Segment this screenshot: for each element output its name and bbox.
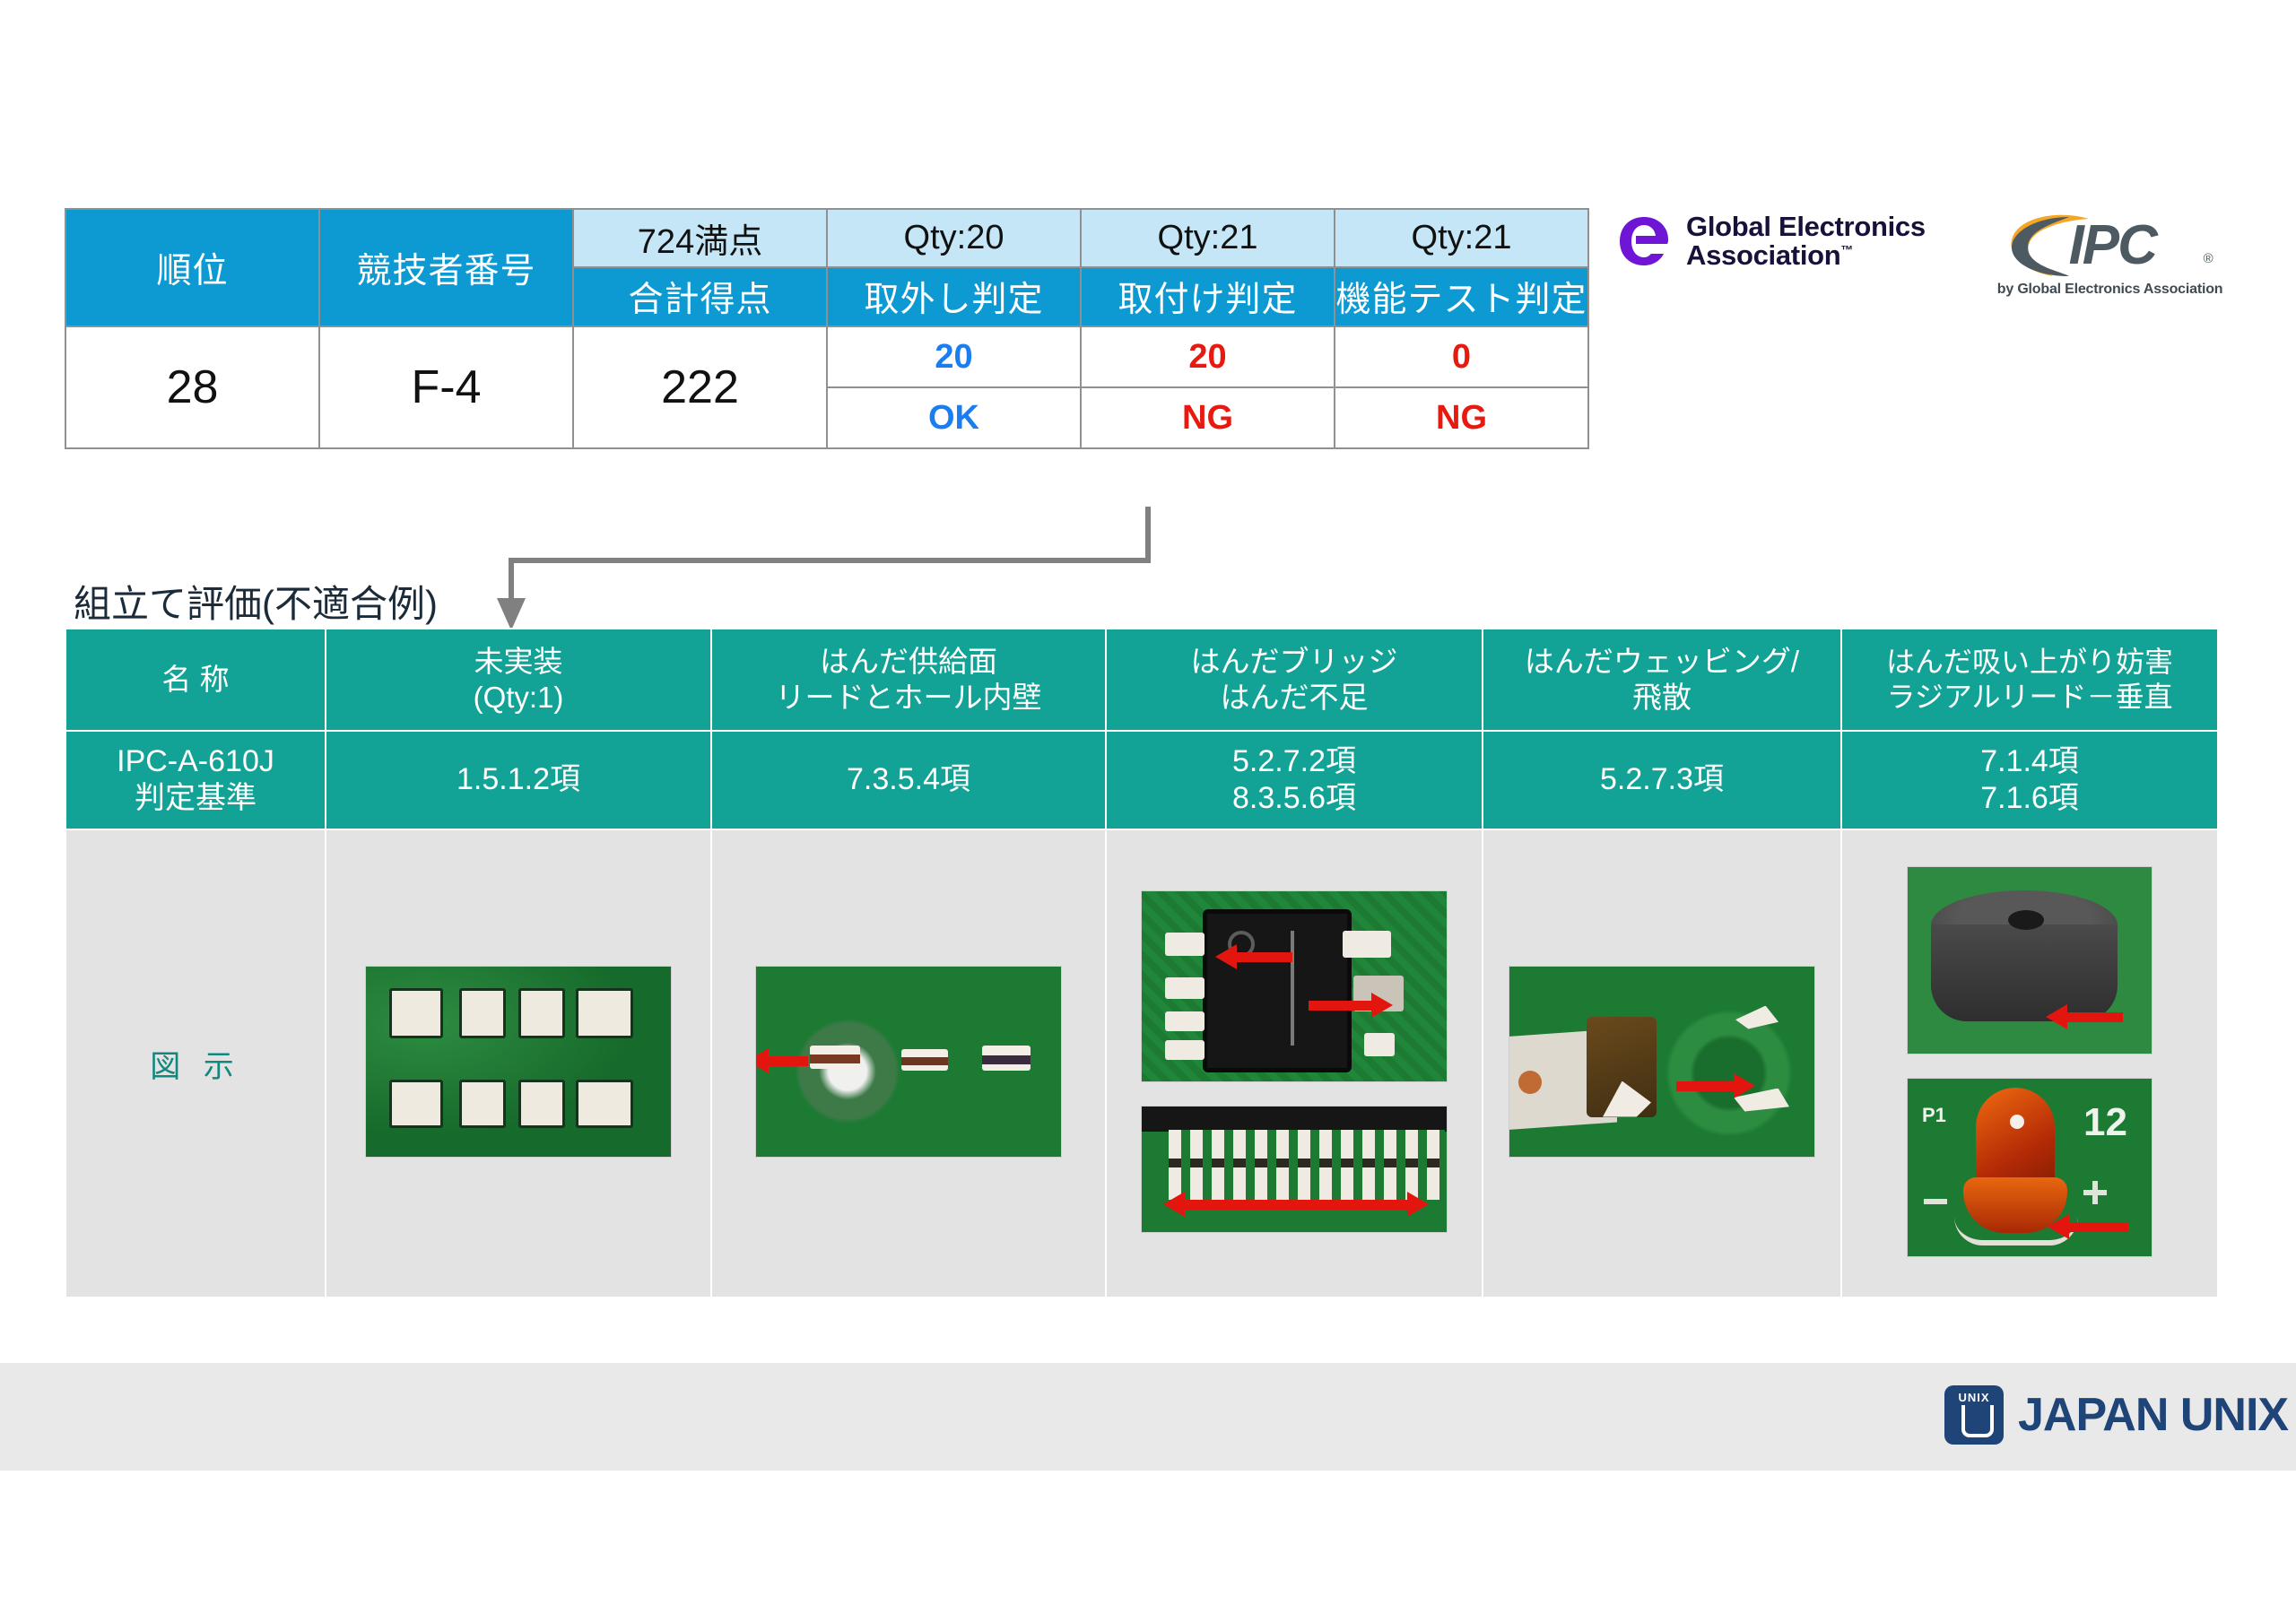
- japan-unix-u-icon: [1961, 1405, 1994, 1437]
- photo-cell-unmounted: [326, 829, 711, 1298]
- score-header-function-qty: Qty:21: [1335, 209, 1588, 267]
- defect-header-wicking: はんだ吸い上がり妨害 ラジアルリード－垂直: [1841, 629, 2218, 731]
- ipc-subtitle: by Global Electronics Association: [1997, 282, 2223, 298]
- criteria-wicking-line-1: 7.1.4項: [1842, 743, 2217, 780]
- defect-header-solder-bridge: はんだブリッジ はんだ不足: [1106, 629, 1483, 731]
- score-value-competitor-no: F-4: [319, 326, 573, 448]
- score-header-max-points: 724満点: [573, 209, 827, 267]
- defect-header-wicking-line-1: はんだ吸い上がり妨害: [1842, 645, 2217, 680]
- criteria-solder-webbing: 5.2.7.3項: [1483, 731, 1841, 829]
- score-value-removal-points: 20: [827, 326, 1081, 387]
- score-header-removal: 取外し判定: [827, 267, 1081, 326]
- defect-header-solder-webbing-line-1: はんだウェッビング/: [1483, 644, 1840, 680]
- score-header-install: 取付け判定: [1081, 267, 1335, 326]
- defect-header-unmounted: 未実装 (Qty:1): [326, 629, 711, 731]
- japan-unix-mark-text: UNIX: [1944, 1391, 2004, 1404]
- ipc-letters: IPC: [2069, 213, 2156, 277]
- ipc-logo: IPC ® by Global Electronics Association: [1997, 212, 2223, 298]
- score-data-row-points: 28 F-4 222 20 20 0: [65, 326, 1588, 387]
- callout-arrow-icon: [2067, 1222, 2128, 1232]
- solder-source-side-photo-wrap: [755, 966, 1062, 1158]
- trademark-icon: ™: [1840, 243, 1853, 257]
- defect-example-table: 名 称 未実装 (Qty:1) はんだ供給面 リードとホール内壁 はんだブリッジ…: [65, 628, 2219, 1298]
- unmounted-pads-photo-wrap: [365, 966, 672, 1158]
- radial-lead-buzzer-photo: [1907, 866, 2152, 1055]
- defect-header-name-line-1: 名 称: [66, 662, 325, 698]
- defect-header-unmounted-line-1: 未実装: [326, 644, 710, 680]
- solder-bridge-photos-wrap: [1141, 890, 1448, 1233]
- score-header-removal-qty: Qty:20: [827, 209, 1081, 267]
- defect-header-unmounted-line-2: (Qty:1): [326, 680, 710, 716]
- defect-header-solder-source: はんだ供給面 リードとホール内壁: [711, 629, 1106, 731]
- global-electronics-association-logo: Global Electronics Association™: [1614, 212, 1926, 271]
- photo-cell-solder-webbing: [1483, 829, 1841, 1298]
- criteria-solder-webbing-line-1: 5.2.7.3項: [1483, 761, 1840, 798]
- gea-line-1: Global Electronics: [1686, 213, 1926, 241]
- criteria-solder-bridge-line-2: 8.3.5.6項: [1107, 780, 1482, 817]
- defect-header-solder-webbing-line-2: 飛散: [1483, 680, 1840, 716]
- callout-arrow-icon: [1183, 1200, 1409, 1210]
- criteria-wicking: 7.1.4項 7.1.6項: [1841, 731, 2218, 829]
- brand-logos: Global Electronics Association™ IPC ® by…: [1614, 212, 2222, 298]
- solder-webbing-photo: [1509, 966, 1815, 1158]
- callout-arrow-icon: [767, 1056, 808, 1066]
- gea-e-icon: [1614, 212, 1674, 271]
- criteria-unmounted-line-1: 1.5.1.2項: [326, 761, 710, 798]
- photo-row-label: 図 示: [65, 829, 326, 1298]
- criteria-solder-source-line-1: 7.3.5.4項: [712, 761, 1105, 798]
- solder-bridge-ic-photo: [1141, 890, 1448, 1082]
- solder-webbing-photo-wrap: [1509, 966, 1815, 1158]
- japan-unix-mark-icon: UNIX: [1944, 1385, 2004, 1445]
- solder-source-side-photo: [755, 966, 1062, 1158]
- score-header-function: 機能テスト判定: [1335, 267, 1588, 326]
- callout-arrow-icon: [1235, 952, 1292, 962]
- photo-cell-wicking: P1 12: [1841, 829, 2218, 1298]
- radial-lead-led-photo: P1 12: [1907, 1078, 2152, 1257]
- section-title: 組立て評価(不適合例): [74, 574, 438, 629]
- defect-criteria-row: IPC-A-610J 判定基準 1.5.1.2項 7.3.5.4項 5.2.7.…: [65, 731, 2218, 829]
- score-result-function: NG: [1335, 387, 1588, 448]
- japan-unix-wordmark: JAPAN UNIX: [2018, 1388, 2288, 1442]
- score-value-function-points: 0: [1335, 326, 1588, 387]
- criteria-solder-bridge: 5.2.7.2項 8.3.5.6項: [1106, 731, 1483, 829]
- solder-bridge-connector-photo: [1141, 1106, 1448, 1233]
- callout-arrow-icon: [2066, 1012, 2123, 1022]
- photo-cell-solder-source: [711, 829, 1106, 1298]
- criteria-label: IPC-A-610J 判定基準: [65, 731, 326, 829]
- callout-arrow-icon: [1676, 1081, 1735, 1091]
- score-value-total: 222: [573, 326, 827, 448]
- ipc-mark: IPC ®: [2003, 212, 2218, 280]
- callout-arrow-icon: [1309, 1001, 1373, 1011]
- registered-icon: ®: [2204, 251, 2213, 266]
- criteria-unmounted: 1.5.1.2項: [326, 731, 711, 829]
- score-result-install: NG: [1081, 387, 1335, 448]
- defect-header-solder-webbing: はんだウェッビング/ 飛散: [1483, 629, 1841, 731]
- score-summary-table: 順位 競技者番号 724満点 Qty:20 Qty:21 Qty:21 合計得点…: [65, 208, 1589, 449]
- defect-header-solder-source-line-2: リードとホール内壁: [712, 680, 1105, 716]
- defect-photo-row: 図 示: [65, 829, 2218, 1298]
- japan-unix-logo: UNIX JAPAN UNIX: [1944, 1385, 2288, 1445]
- unmounted-pads-photo: [365, 966, 672, 1158]
- score-header-competitor-no: 競技者番号: [319, 209, 573, 326]
- score-header-total: 合計得点: [573, 267, 827, 326]
- score-result-removal: OK: [827, 387, 1081, 448]
- score-header-row-top: 順位 競技者番号 724満点 Qty:20 Qty:21 Qty:21: [65, 209, 1588, 267]
- criteria-label-line-2: 判定基準: [66, 780, 325, 817]
- score-header-rank: 順位: [65, 209, 319, 326]
- callout-connector-arrow: [448, 498, 1166, 637]
- gea-wordmark: Global Electronics Association™: [1686, 213, 1926, 269]
- wicking-photos-wrap: P1 12: [1907, 866, 2152, 1257]
- score-value-install-points: 20: [1081, 326, 1335, 387]
- defect-header-wicking-line-2: ラジアルリード－垂直: [1842, 680, 2217, 715]
- defect-header-solder-source-line-1: はんだ供給面: [712, 644, 1105, 680]
- gea-line-2: Association™: [1686, 241, 1926, 270]
- defect-header-row: 名 称 未実装 (Qty:1) はんだ供給面 リードとホール内壁 はんだブリッジ…: [65, 629, 2218, 731]
- score-header-install-qty: Qty:21: [1081, 209, 1335, 267]
- photo-cell-solder-bridge: [1106, 829, 1483, 1298]
- criteria-label-line-1: IPC-A-610J: [66, 743, 325, 780]
- criteria-solder-source: 7.3.5.4項: [711, 731, 1106, 829]
- defect-header-solder-bridge-line-1: はんだブリッジ: [1107, 644, 1482, 680]
- criteria-solder-bridge-line-1: 5.2.7.2項: [1107, 743, 1482, 780]
- defect-header-solder-bridge-line-2: はんだ不足: [1107, 680, 1482, 716]
- defect-header-name: 名 称: [65, 629, 326, 731]
- criteria-wicking-line-2: 7.1.6項: [1842, 780, 2217, 817]
- score-value-rank: 28: [65, 326, 319, 448]
